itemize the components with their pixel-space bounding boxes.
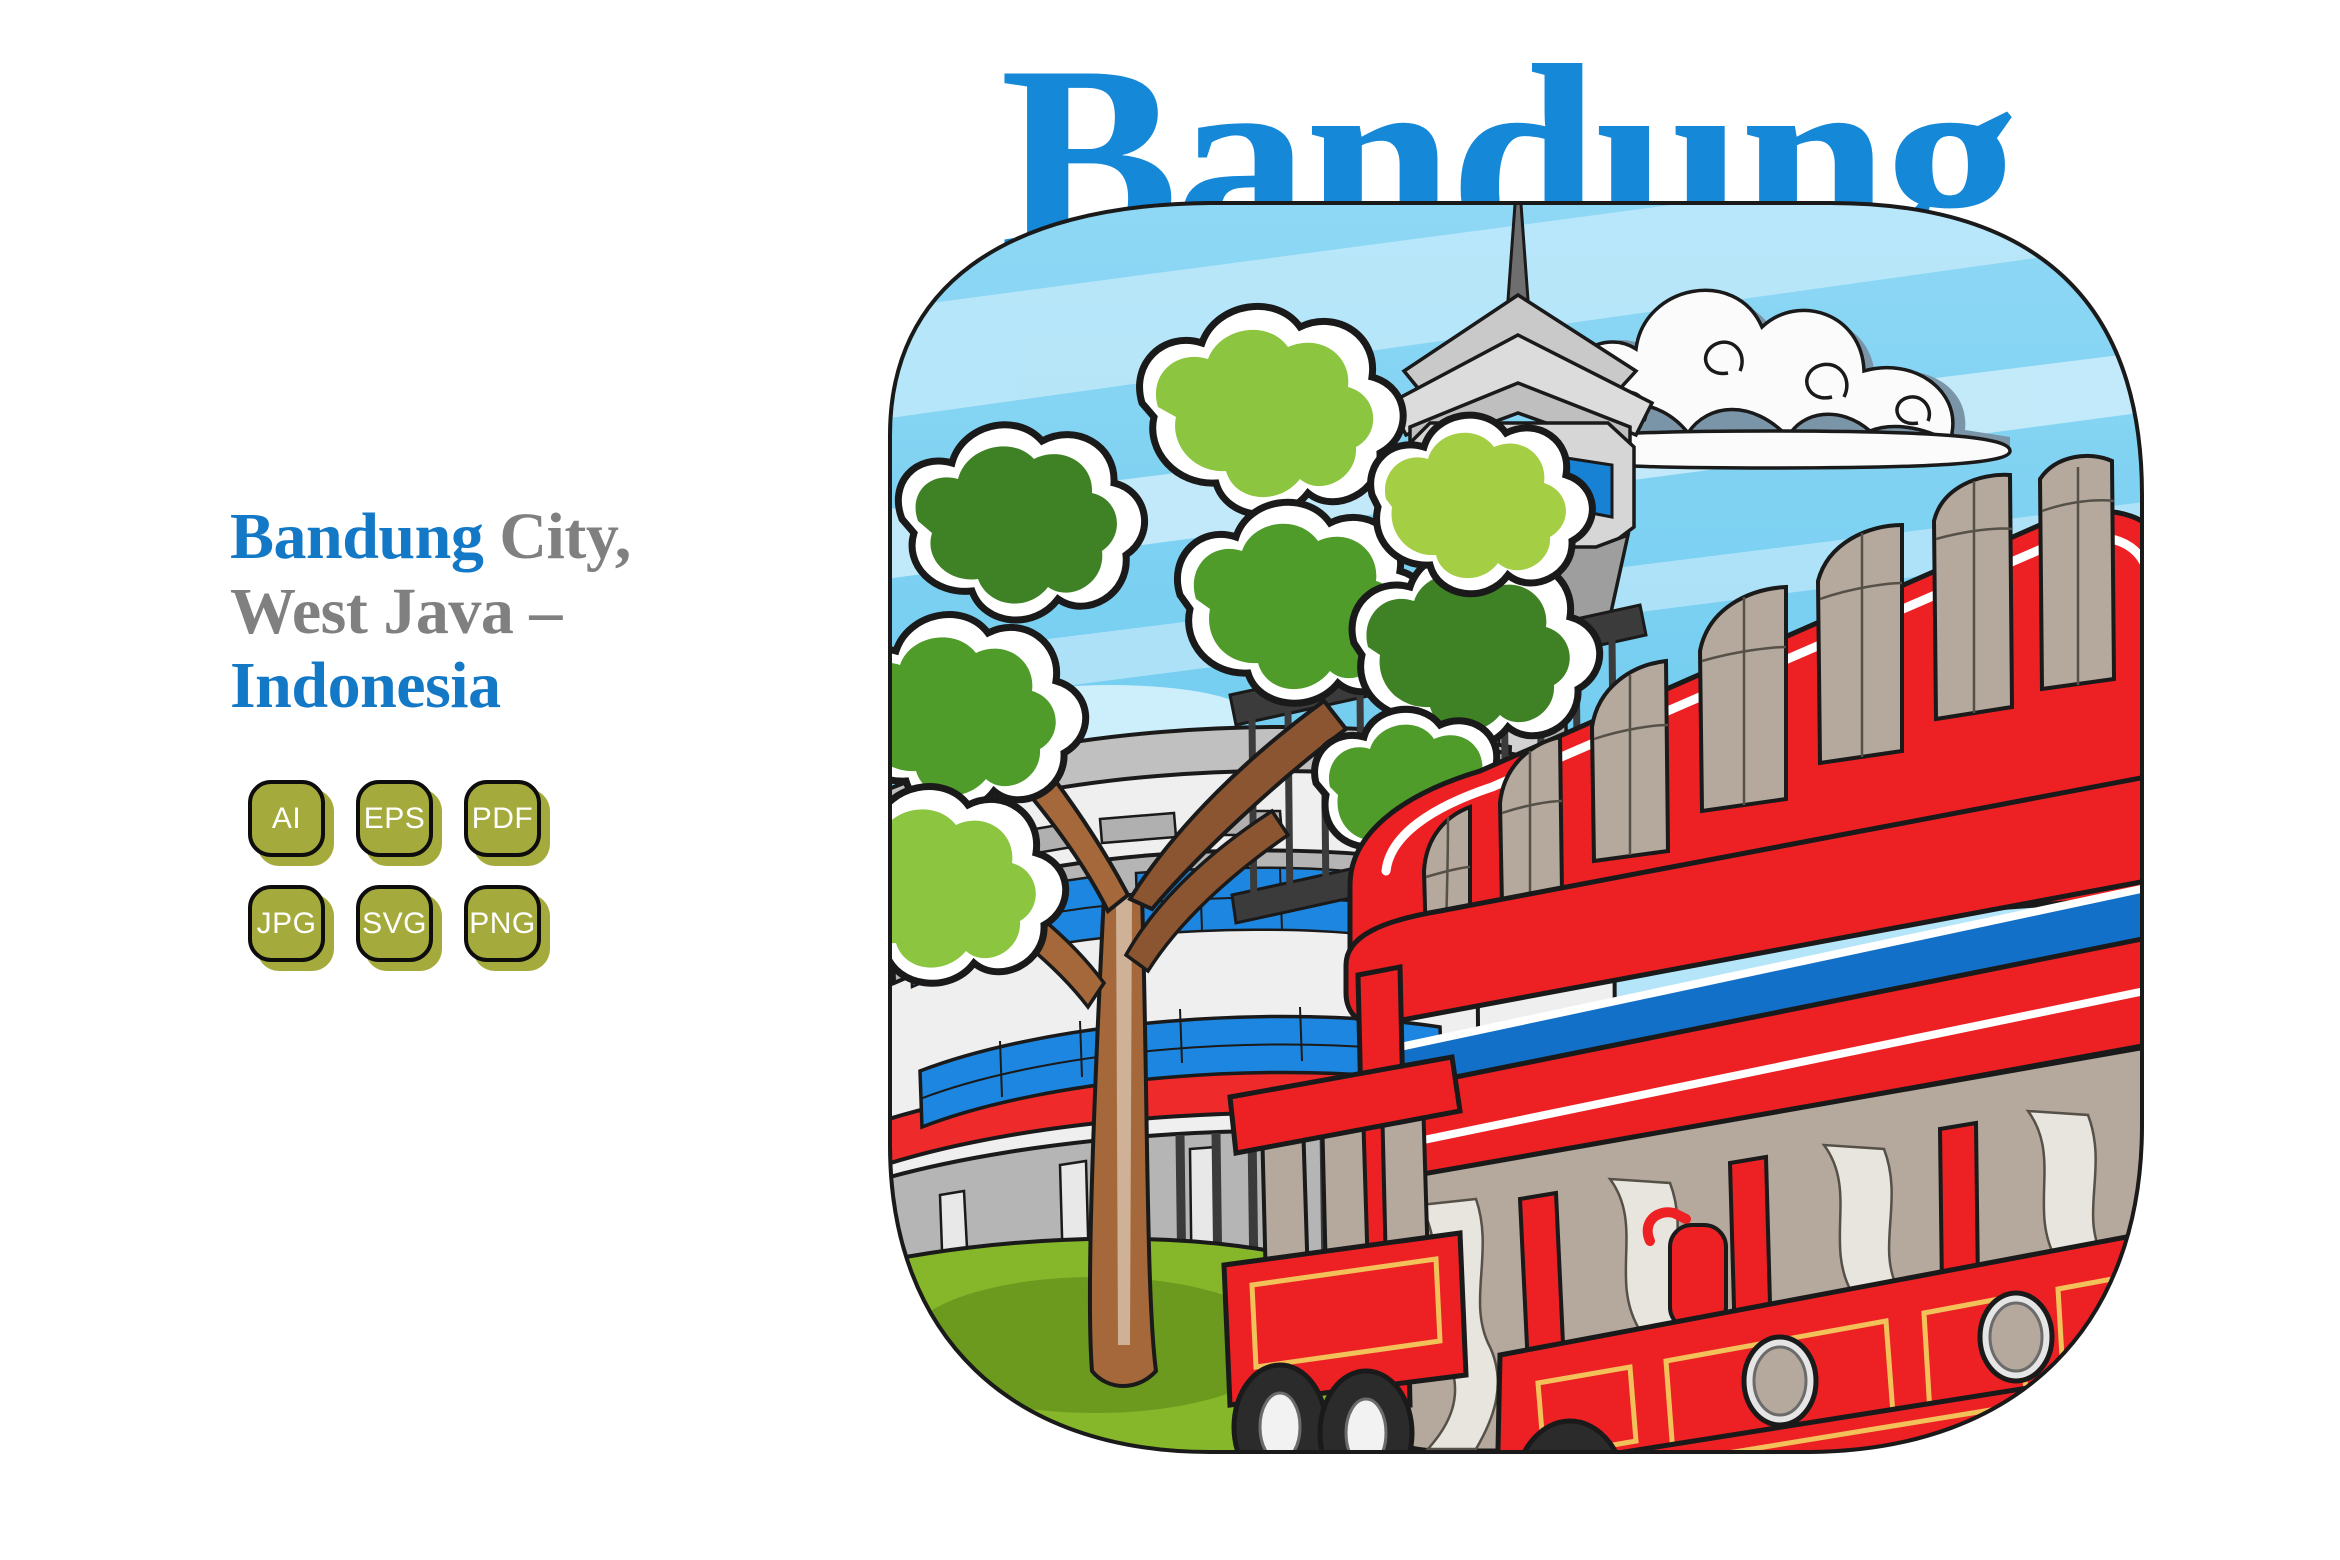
badge-face: SVG: [356, 885, 433, 962]
badge-label: EPS: [364, 804, 426, 834]
badge-label: AI: [272, 804, 301, 834]
subtitle-city-gray: City,: [483, 500, 630, 573]
bandung-city-illustration: [880, 195, 2150, 1460]
foliage-cluster-5: [818, 787, 1066, 984]
scene-group: [818, 135, 2216, 1560]
bus-wheel-front: [1514, 1421, 1626, 1560]
badge-jpg[interactable]: JPG: [248, 885, 334, 971]
bus-wheel-rear-2-hub: [1346, 1399, 1386, 1467]
file-format-badge-grid: AI EPS PDF JPG SVG: [248, 780, 550, 971]
badge-svg[interactable]: SVG: [356, 885, 442, 971]
badge-face: PDF: [464, 780, 541, 857]
badge-face: PNG: [464, 885, 541, 962]
bus-front-apron: [1500, 1495, 1866, 1560]
tree-trunk-highlight: [1116, 895, 1132, 1345]
badge-pdf[interactable]: PDF: [464, 780, 550, 866]
foliage-cluster-4: [838, 615, 1086, 812]
badge-face: EPS: [356, 780, 433, 857]
badge-ai[interactable]: AI: [248, 780, 334, 866]
badge-eps[interactable]: EPS: [356, 780, 442, 866]
subtitle-city-blue: Bandung: [230, 500, 483, 573]
bus-wheel-front-hub: [1546, 1455, 1594, 1535]
subtitle-block: Bandung City, West Java – Indonesia: [230, 500, 790, 724]
subtitle-region: West Java –: [230, 575, 562, 648]
bus-apron-pinstripe: [1534, 1509, 1836, 1525]
badge-face: JPG: [248, 885, 325, 962]
badge-face: AI: [248, 780, 325, 857]
badge-png[interactable]: PNG: [464, 885, 550, 971]
left-info-panel: Bandung City, West Java – Indonesia: [230, 500, 790, 724]
subtitle-country: Indonesia: [230, 649, 501, 722]
badge-label: PNG: [469, 909, 536, 939]
badge-label: JPG: [257, 909, 317, 939]
badge-label: PDF: [472, 804, 534, 834]
poster-canvas: Bandung Bandung City, West Java – Indone…: [0, 0, 2340, 1560]
badge-label: SVG: [362, 909, 427, 939]
